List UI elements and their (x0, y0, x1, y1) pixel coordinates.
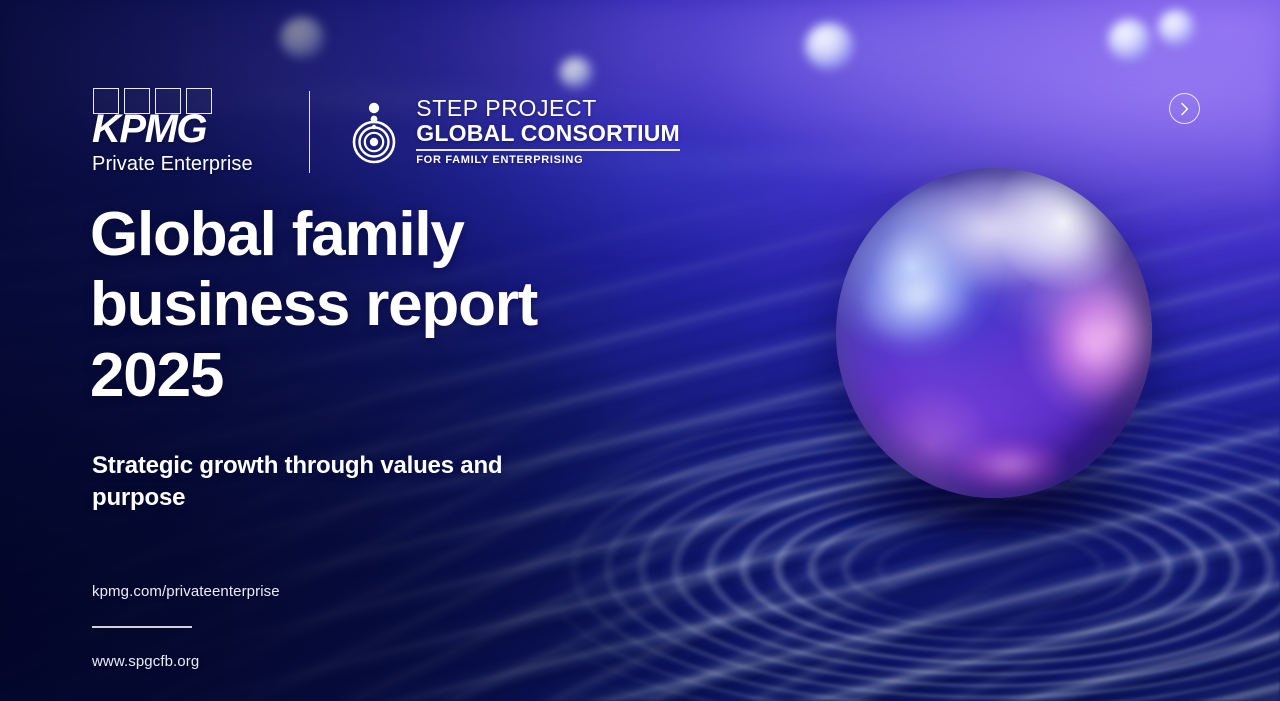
brand-divider (309, 91, 311, 173)
report-cover: KPMG Private Enterprise STEP PROJECT GLO… (0, 0, 1280, 701)
chevron-right-icon (1179, 102, 1190, 116)
kpmg-wordmark: KPMG (92, 110, 253, 148)
step-line-2: GLOBAL CONSORTIUM (416, 121, 680, 145)
spgcfb-link[interactable]: www.spgcfb.org (92, 653, 280, 670)
step-line-1: STEP PROJECT (416, 97, 680, 121)
link-divider (92, 626, 192, 628)
kpmg-tagline: Private Enterprise (92, 153, 253, 175)
kpmg-link[interactable]: kpmg.com/privateenterprise (92, 583, 280, 600)
page-title: Global family business report 2025 (90, 200, 650, 411)
step-line-3: FOR FAMILY ENTERPRISING (416, 154, 680, 166)
step-project-logo[interactable]: STEP PROJECT GLOBAL CONSORTIUM FOR FAMIL… (346, 97, 680, 166)
footer-links: kpmg.com/privateenterprise www.spgcfb.or… (92, 583, 280, 670)
step-concentric-circles-icon (346, 100, 402, 164)
brand-bar: KPMG Private Enterprise STEP PROJECT GLO… (92, 88, 680, 175)
page-subtitle: Strategic growth through values and purp… (92, 450, 532, 514)
step-rule (416, 149, 680, 151)
next-button[interactable] (1169, 93, 1200, 124)
kpmg-logo[interactable]: KPMG Private Enterprise (92, 88, 253, 175)
